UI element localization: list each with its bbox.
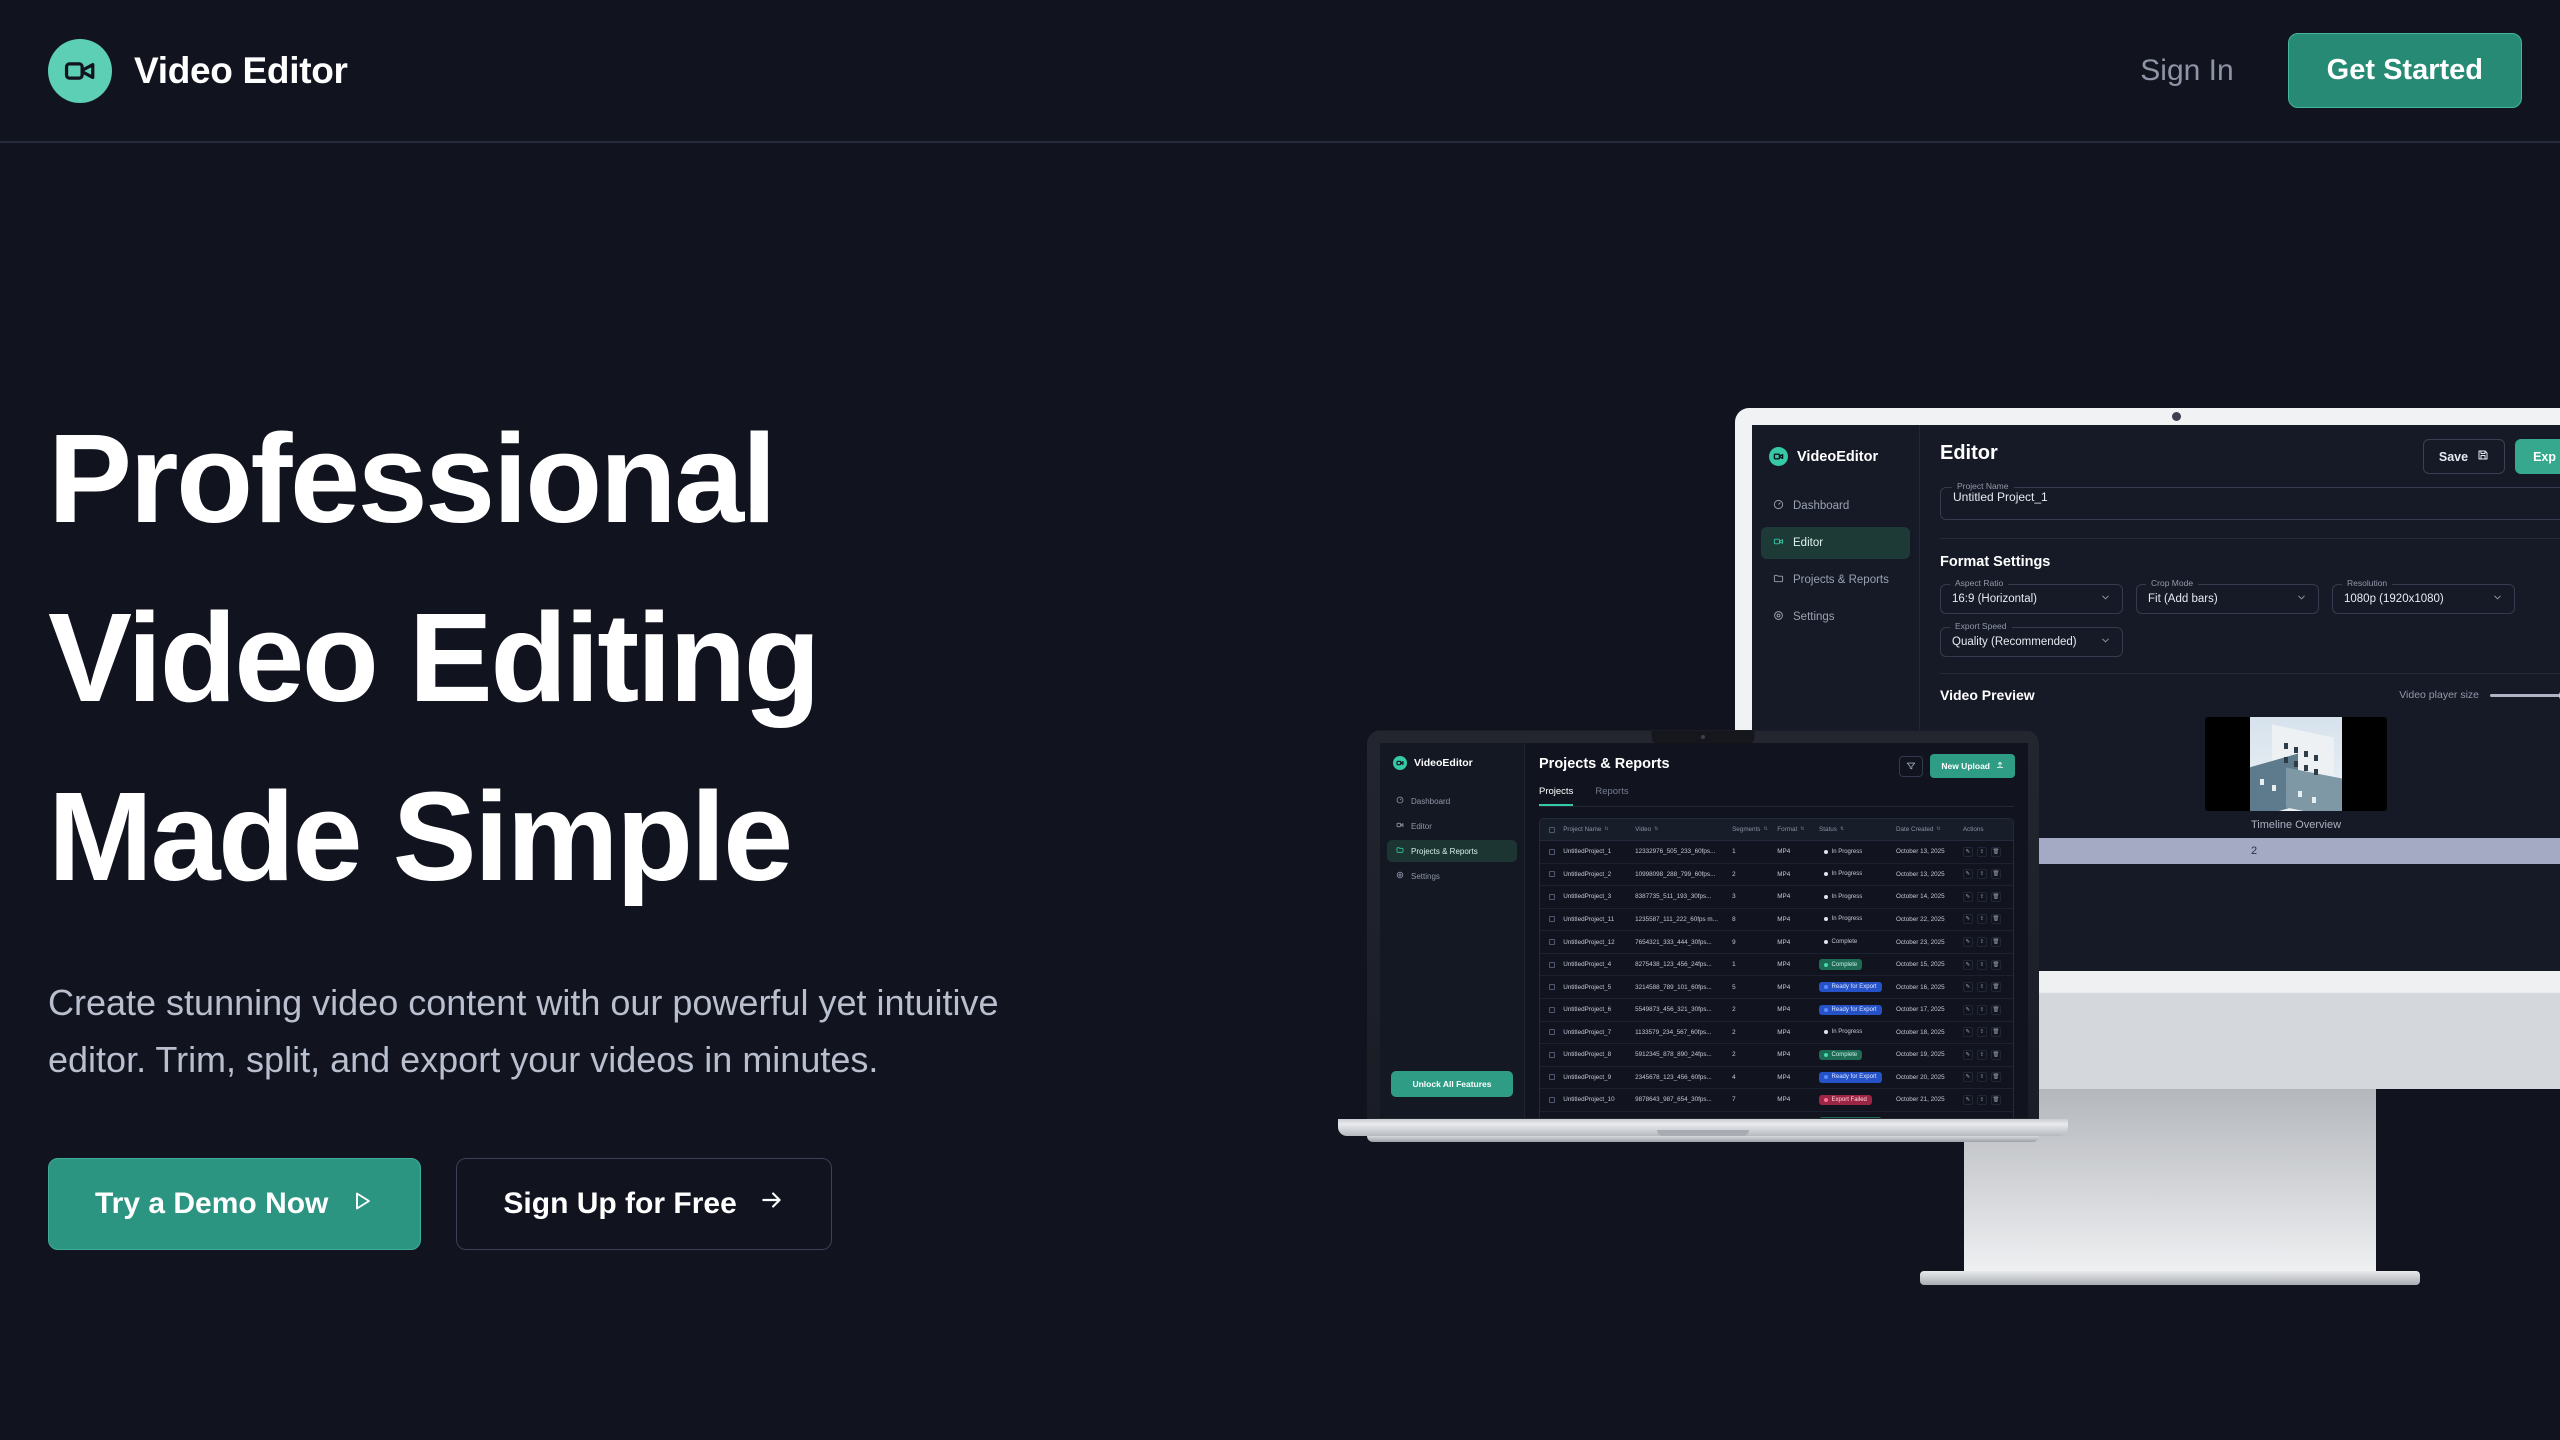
preview-thumbnail (2250, 717, 2342, 811)
field-value: Fit (Add bars) (2148, 593, 2218, 605)
laptop-main: Projects & Reports New Upload Projects R… (1525, 743, 2028, 1118)
folder-icon (1396, 846, 1404, 856)
cell-date-created: October 18, 2025 (1896, 1027, 1963, 1037)
edit-icon[interactable]: ✎ (1963, 869, 1973, 879)
delete-icon[interactable]: 🗑 (1991, 1095, 2001, 1105)
sidebar-label: Projects & Reports (1793, 574, 1889, 586)
cell-video: 3214588_789_101_60fps... (1635, 982, 1732, 992)
status-badge: Complete (1819, 937, 1896, 947)
cell-format: MP4 (1777, 959, 1819, 969)
cell-format: MP4 (1777, 1095, 1819, 1105)
edit-icon[interactable]: ✎ (1963, 960, 1973, 970)
sort-icon: ⇅ (1604, 827, 1608, 832)
cell-project-name: UntitledProject_11 (1563, 914, 1635, 924)
projects-table: Project Name⇅ Video⇅ Segments⇅ Format⇅ S… (1539, 818, 2014, 1118)
video-player-size-slider[interactable]: Video player size (2399, 689, 2560, 701)
video-camera-icon (1769, 447, 1788, 466)
cell-video: 7654321_333_444_30fps... (1635, 937, 1732, 947)
cell-segments: 2 (1732, 869, 1777, 879)
cell-segments: 2 (1732, 1005, 1777, 1015)
video-icon (1396, 821, 1404, 831)
funnel-icon[interactable] (1899, 756, 1923, 777)
cell-segments: 9 (1732, 937, 1777, 947)
monitor-nav: Dashboard Editor Projects & Reports (1752, 490, 1919, 633)
sidebar-item-editor[interactable]: Editor (1761, 527, 1910, 559)
field-label: Export Speed (1950, 621, 2012, 631)
cell-video: 8387735_511_193_30fps... (1635, 892, 1732, 902)
edit-icon[interactable]: ✎ (1963, 1050, 1973, 1060)
sort-icon: ⇅ (1800, 827, 1804, 832)
cell-video: 10998098_288_799_60fps... (1635, 869, 1732, 879)
cell-segments: 1 (1732, 847, 1777, 857)
export-icon[interactable]: ⇪ (1977, 1005, 1987, 1015)
status-badge: Ready for Export (1819, 1005, 1896, 1015)
try-demo-label: Try a Demo Now (95, 1187, 328, 1221)
timeline-overview-label: Timeline Overview (1982, 819, 2560, 831)
table-row[interactable]: UntitledProject_109878643_987_654_30fps.… (1540, 1089, 2013, 1112)
cell-date-created: October 17, 2025 (1896, 1005, 1963, 1015)
cell-project-name: UntitledProject_13 (1563, 1117, 1635, 1118)
monitor-brand-label: VideoEditor (1797, 449, 1878, 465)
edit-icon[interactable]: ✎ (1963, 1005, 1973, 1015)
cell-date-created: October 20, 2025 (1896, 1072, 1963, 1082)
delete-icon[interactable]: 🗑 (1991, 1005, 2001, 1015)
column-actions: Actions (1963, 826, 2013, 833)
sidebar-item-settings[interactable]: Settings (1387, 865, 1517, 887)
cell-video: 1357924_555_666_60fps... (1635, 1117, 1732, 1118)
arrow-right-icon (759, 1187, 785, 1221)
video-preview-player[interactable] (2205, 717, 2387, 811)
cell-format: MP4 (1777, 982, 1819, 992)
row-checkbox[interactable] (1540, 914, 1563, 924)
monitor-camera-icon (2172, 412, 2181, 421)
table-row[interactable]: UntitledProject_127654321_333_444_30fps.… (1540, 931, 2013, 954)
new-upload-button[interactable]: New Upload (1930, 754, 2015, 778)
crop-mode-select[interactable]: Crop Mode Fit (Add bars) (2136, 584, 2319, 614)
unlock-all-features-button[interactable]: Unlock All Features (1391, 1071, 1513, 1097)
cell-project-name: UntitledProject_5 (1563, 982, 1635, 992)
cell-project-name: UntitledProject_4 (1563, 959, 1635, 969)
laptop-lid: VideoEditor Dashboard Editor (1367, 730, 2039, 1119)
sidebar-label: Editor (1793, 537, 1823, 549)
edit-icon[interactable]: ✎ (1963, 1027, 1973, 1037)
format-settings-group: Aspect Ratio 16:9 (Horizontal) Crop Mode… (1940, 584, 2560, 657)
cell-date-created: October 24, 2025 (1896, 1117, 1963, 1118)
export-icon[interactable]: ⇪ (1977, 982, 1987, 992)
cell-format: MP4 (1777, 914, 1819, 924)
table-row[interactable]: UntitledProject_85912345_878_890_24fps..… (1540, 1044, 2013, 1067)
row-checkbox[interactable] (1540, 982, 1563, 992)
cell-format: MP4 (1777, 869, 1819, 879)
resolution-select[interactable]: Resolution 1080p (1920x1080) (2332, 584, 2515, 614)
cell-format: MP4 (1777, 1027, 1819, 1037)
laptop-sidebar: VideoEditor Dashboard Editor (1380, 743, 1525, 1118)
status-badge: In Progress (1819, 892, 1896, 902)
cell-video: 5912345_878_890_24fps... (1635, 1050, 1732, 1060)
cell-project-name: UntitledProject_7 (1563, 1027, 1635, 1037)
header-actions: Sign In Get Started (2140, 33, 2522, 108)
column-date-created[interactable]: Date Created⇅ (1896, 826, 1963, 833)
field-label: Aspect Ratio (1950, 578, 2008, 588)
edit-icon[interactable]: ✎ (1963, 892, 1973, 902)
cell-segments: 4 (1732, 1072, 1777, 1082)
cell-project-name: UntitledProject_1 (1563, 847, 1635, 857)
gear-icon (1396, 871, 1404, 881)
row-checkbox[interactable] (1540, 1072, 1563, 1082)
status-badge: Complete (1819, 1050, 1896, 1060)
chevron-down-icon (2100, 633, 2111, 651)
row-checkbox[interactable] (1540, 1095, 1563, 1105)
status-badge: In Progress (1819, 914, 1896, 924)
cell-segments: 10 (1732, 1117, 1777, 1118)
delete-icon[interactable]: 🗑 (1991, 869, 2001, 879)
sort-icon: ⇅ (1654, 827, 1658, 832)
video-preview-heading: Video Preview (1940, 687, 2035, 703)
status-badge: In Progress (1819, 847, 1896, 857)
edit-icon[interactable]: ✎ (1963, 914, 1973, 924)
format-settings-heading: Format Settings (1940, 554, 2560, 570)
status-badge: In Progress (1819, 869, 1896, 879)
hero-cta-group: Try a Demo Now Sign Up for Free (48, 1158, 1228, 1250)
select-all-checkbox[interactable] (1540, 826, 1563, 833)
table-body: UntitledProject_112332976_505_233_60fps.… (1540, 841, 2013, 1118)
cell-actions[interactable]: ✎⇪🗑 (1963, 892, 2013, 902)
export-icon[interactable]: ⇪ (1977, 892, 1987, 902)
cell-date-created: October 22, 2025 (1896, 914, 1963, 924)
sign-up-label: Sign Up for Free (503, 1187, 736, 1221)
row-checkbox[interactable] (1540, 1005, 1563, 1015)
cell-actions[interactable]: ✎⇪🗑 (1963, 914, 2013, 924)
export-icon[interactable]: ⇪ (1977, 847, 1987, 857)
monitor-foot (1920, 1271, 2420, 1285)
delete-icon[interactable]: 🗑 (1991, 1050, 2001, 1060)
sort-icon: ⇅ (1763, 827, 1767, 832)
row-checkbox[interactable] (1540, 847, 1563, 857)
sort-icon: ⇅ (1936, 827, 1940, 832)
sidebar-label: Settings (1411, 872, 1440, 881)
sidebar-label: Editor (1411, 822, 1432, 831)
video-camera-icon (48, 39, 112, 103)
delete-icon[interactable]: 🗑 (1991, 1027, 2001, 1037)
table-row[interactable]: UntitledProject_38387735_511_193_30fps..… (1540, 886, 2013, 909)
column-video[interactable]: Video⇅ (1635, 826, 1732, 833)
edit-icon[interactable]: ✎ (1963, 982, 1973, 992)
column-project-name[interactable]: Project Name⇅ (1563, 826, 1635, 833)
delete-icon[interactable]: 🗑 (1991, 937, 2001, 947)
cell-project-name: UntitledProject_10 (1563, 1095, 1635, 1105)
cell-project-name: UntitledProject_12 (1563, 937, 1635, 947)
sort-icon: ⇅ (1840, 827, 1844, 832)
delete-icon[interactable]: 🗑 (1991, 892, 2001, 902)
timeline-value: 2 (2251, 845, 2257, 857)
upload-icon (1996, 761, 2004, 771)
laptop-foot (1367, 1136, 2039, 1142)
cell-date-created: October 15, 2025 (1896, 959, 1963, 969)
row-checkbox[interactable] (1540, 937, 1563, 947)
table-row[interactable]: UntitledProject_48275438_123_456_24fps..… (1540, 954, 2013, 977)
project-name-field[interactable]: Project Name Untitled Project_1 (1940, 487, 2560, 520)
cell-actions[interactable]: ✎⇪🗑 (1963, 959, 2013, 969)
chevron-down-icon (2100, 590, 2111, 608)
table-row[interactable]: UntitledProject_71133579_234_567_60fps..… (1540, 1022, 2013, 1045)
site-header: Video Editor Sign In Get Started (0, 0, 2560, 143)
tab-reports[interactable]: Reports (1595, 786, 1628, 806)
cell-format: MP4 (1777, 1050, 1819, 1060)
monitor-toolbar: Save Exp (2423, 439, 2560, 474)
edit-icon[interactable]: ✎ (1963, 847, 1973, 857)
sidebar-item-dashboard[interactable]: Dashboard (1387, 790, 1517, 812)
cell-actions[interactable]: ✎⇪🗑 (1963, 1005, 2013, 1015)
export-icon[interactable]: ⇪ (1977, 937, 1987, 947)
save-button[interactable]: Save (2423, 439, 2505, 474)
save-label: Save (2439, 450, 2468, 464)
laptop-screen: VideoEditor Dashboard Editor (1380, 743, 2028, 1118)
cell-date-created: October 13, 2025 (1896, 869, 1963, 879)
sidebar-label: Dashboard (1793, 500, 1849, 512)
delete-icon[interactable]: 🗑 (1991, 914, 2001, 924)
sign-in-button[interactable]: Sign In (2140, 54, 2233, 88)
laptop-camera-icon (1701, 735, 1705, 739)
monitor-brand: VideoEditor (1752, 441, 1919, 466)
sidebar-item-projects-reports[interactable]: Projects & Reports (1761, 564, 1910, 596)
cell-format: MP4 (1777, 937, 1819, 947)
cell-segments: 3 (1732, 892, 1777, 902)
laptop-brand-label: VideoEditor (1414, 757, 1473, 769)
try-demo-button[interactable]: Try a Demo Now (48, 1158, 421, 1250)
laptop-brand: VideoEditor (1380, 756, 1524, 770)
row-checkbox[interactable] (1540, 869, 1563, 879)
video-camera-icon (1393, 756, 1407, 770)
player-size-label: Video player size (2399, 689, 2479, 701)
floppy-disk-icon (2477, 449, 2489, 464)
hero-subtitle: Create stunning video content with our p… (48, 975, 1148, 1089)
table-row[interactable]: UntitledProject_131357924_555_666_60fps.… (1540, 1112, 2013, 1118)
table-row[interactable]: UntitledProject_65549873_456_321_30fps..… (1540, 999, 2013, 1022)
building-photo (2250, 717, 2342, 811)
cell-actions[interactable]: ✎⇪🗑 (1963, 937, 2013, 947)
cell-actions[interactable]: ✎⇪🗑 (1963, 1027, 2013, 1037)
export-icon[interactable]: ⇪ (1977, 869, 1987, 879)
cell-project-name: UntitledProject_2 (1563, 869, 1635, 879)
tab-projects[interactable]: Projects (1539, 786, 1573, 806)
brand[interactable]: Video Editor (48, 39, 348, 103)
laptop-toolbar: New Upload (1899, 754, 2015, 778)
cell-format: MP4 (1777, 892, 1819, 902)
folder-icon (1773, 573, 1784, 587)
get-started-button[interactable]: Get Started (2288, 33, 2522, 108)
field-value: 1080p (1920x1080) (2344, 593, 2444, 605)
column-format[interactable]: Format⇅ (1777, 826, 1819, 833)
cell-format: MP4 (1777, 1117, 1819, 1118)
brand-name: Video Editor (134, 50, 348, 92)
sidebar-item-projects-reports[interactable]: Projects & Reports (1387, 840, 1517, 862)
cell-segments: 1 (1732, 959, 1777, 969)
cell-date-created: October 19, 2025 (1896, 1050, 1963, 1060)
field-label: Crop Mode (2146, 578, 2198, 588)
laptop-mockup: VideoEditor Dashboard Editor (1367, 730, 2039, 1142)
edit-icon[interactable]: ✎ (1963, 1095, 1973, 1105)
table-row[interactable]: UntitledProject_111235587_111_222_60fps … (1540, 909, 2013, 932)
export-icon[interactable]: ⇪ (1977, 1072, 1987, 1082)
laptop-tabs: Projects Reports (1539, 786, 2014, 807)
column-segments[interactable]: Segments⇅ (1732, 826, 1777, 833)
row-checkbox[interactable] (1540, 892, 1563, 902)
field-label: Resolution (2342, 578, 2392, 588)
cell-segments: 5 (1732, 982, 1777, 992)
cell-video: 12332976_505_233_60fps... (1635, 847, 1732, 857)
status-badge: In Progress (1819, 1027, 1896, 1037)
gauge-icon (1396, 796, 1404, 806)
cell-segments: 2 (1732, 1027, 1777, 1037)
export-icon[interactable]: ⇪ (1977, 1027, 1987, 1037)
cell-format: MP4 (1777, 1005, 1819, 1015)
row-checkbox[interactable] (1540, 959, 1563, 969)
table-header-row: Project Name⇅ Video⇅ Segments⇅ Format⇅ S… (1540, 819, 2013, 841)
aspect-ratio-select[interactable]: Aspect Ratio 16:9 (Horizontal) (1940, 584, 2123, 614)
laptop-base (1338, 1119, 2068, 1136)
cell-actions[interactable]: ✎⇪🗑 (1963, 847, 2013, 857)
sign-up-free-button[interactable]: Sign Up for Free (456, 1158, 831, 1250)
field-value: Quality (Recommended) (1952, 636, 2077, 648)
cell-project-name: UntitledProject_8 (1563, 1050, 1635, 1060)
export-icon[interactable]: ⇪ (1977, 914, 1987, 924)
hero-section: Professional Video Editing Made Simple C… (48, 390, 1228, 1250)
delete-icon[interactable]: 🗑 (1991, 960, 2001, 970)
table-row[interactable]: UntitledProject_92345678_123_456_60fps..… (1540, 1067, 2013, 1090)
export-icon[interactable]: ⇪ (1977, 1050, 1987, 1060)
table-row[interactable]: UntitledProject_210998098_288_799_60fps.… (1540, 864, 2013, 887)
cell-video: 8275438_123_456_24fps... (1635, 959, 1732, 969)
cell-actions[interactable]: ✎⇪🗑 (1963, 1050, 2013, 1060)
cell-video: 5549873_456_321_30fps... (1635, 1005, 1732, 1015)
export-icon[interactable]: ⇪ (1977, 960, 1987, 970)
export-button[interactable]: Exp (2515, 439, 2560, 474)
sidebar-label: Projects & Reports (1411, 847, 1478, 856)
table-row[interactable]: UntitledProject_112332976_505_233_60fps.… (1540, 841, 2013, 864)
row-checkbox[interactable] (1540, 1027, 1563, 1037)
cell-actions[interactable]: ✎⇪🗑 (1963, 1072, 2013, 1082)
play-triangle-icon (350, 1187, 374, 1221)
table-row[interactable]: UntitledProject_53214588_789_101_60fps..… (1540, 976, 2013, 999)
column-status[interactable]: Status⇅ (1819, 826, 1896, 833)
cell-actions[interactable]: ✎⇪🗑 (1963, 1117, 2013, 1118)
page-title: Professional Video Editing Made Simple (48, 390, 1228, 927)
cell-video: 1133579_234_567_60fps... (1635, 1027, 1732, 1037)
edit-icon[interactable]: ✎ (1963, 1072, 1973, 1082)
chevron-down-icon (2296, 590, 2307, 608)
field-value: 16:9 (Horizontal) (1952, 593, 2037, 605)
row-checkbox[interactable] (1540, 1050, 1563, 1060)
sidebar-item-settings[interactable]: Settings (1761, 601, 1910, 633)
cell-project-name: UntitledProject_9 (1563, 1072, 1635, 1082)
cell-video: 9878643_987_654_30fps... (1635, 1095, 1732, 1105)
cell-project-name: UntitledProject_3 (1563, 892, 1635, 902)
status-badge: Ready for Export (1819, 1117, 1896, 1118)
cell-date-created: October 16, 2025 (1896, 982, 1963, 992)
export-icon[interactable]: ⇪ (1977, 1095, 1987, 1105)
cell-segments: 7 (1732, 1095, 1777, 1105)
delete-icon[interactable]: 🗑 (1991, 847, 2001, 857)
delete-icon[interactable]: 🗑 (1991, 1072, 2001, 1082)
status-badge: Export Failed (1819, 1095, 1896, 1105)
sidebar-item-dashboard[interactable]: Dashboard (1761, 490, 1910, 522)
laptop-nav: Dashboard Editor Projects & Reports (1380, 787, 1524, 890)
cell-format: MP4 (1777, 847, 1819, 857)
new-upload-label: New Upload (1941, 761, 1990, 771)
delete-icon[interactable]: 🗑 (1991, 982, 2001, 992)
cell-format: MP4 (1777, 1072, 1819, 1082)
row-checkbox[interactable] (1540, 1117, 1563, 1118)
cell-actions[interactable]: ✎⇪🗑 (1963, 1095, 2013, 1105)
slider-track[interactable] (2490, 694, 2560, 697)
cell-video: 2345678_123_456_60fps... (1635, 1072, 1732, 1082)
cell-actions[interactable]: ✎⇪🗑 (1963, 982, 2013, 992)
sidebar-label: Dashboard (1411, 797, 1450, 806)
cell-video: 1235587_111_222_60fps m... (1635, 914, 1732, 924)
cell-date-created: October 23, 2025 (1896, 937, 1963, 947)
gauge-icon (1773, 499, 1784, 513)
status-badge: Complete (1819, 959, 1896, 969)
status-badge: Ready for Export (1819, 1072, 1896, 1082)
cell-segments: 2 (1732, 1050, 1777, 1060)
video-icon (1773, 536, 1784, 550)
status-badge: Ready for Export (1819, 982, 1896, 992)
sidebar-item-editor[interactable]: Editor (1387, 815, 1517, 837)
project-name-label: Project Name (1952, 481, 2014, 491)
chevron-down-icon (2492, 590, 2503, 608)
gear-icon (1773, 610, 1784, 624)
cell-date-created: October 14, 2025 (1896, 892, 1963, 902)
edit-icon[interactable]: ✎ (1963, 937, 1973, 947)
export-speed-select[interactable]: Export Speed Quality (Recommended) (1940, 627, 2123, 657)
sidebar-label: Settings (1793, 611, 1835, 623)
cell-segments: 8 (1732, 914, 1777, 924)
cell-date-created: October 13, 2025 (1896, 847, 1963, 857)
cell-project-name: UntitledProject_6 (1563, 1005, 1635, 1015)
cell-actions[interactable]: ✎⇪🗑 (1963, 869, 2013, 879)
divider (1940, 538, 2560, 539)
cell-date-created: October 21, 2025 (1896, 1095, 1963, 1105)
